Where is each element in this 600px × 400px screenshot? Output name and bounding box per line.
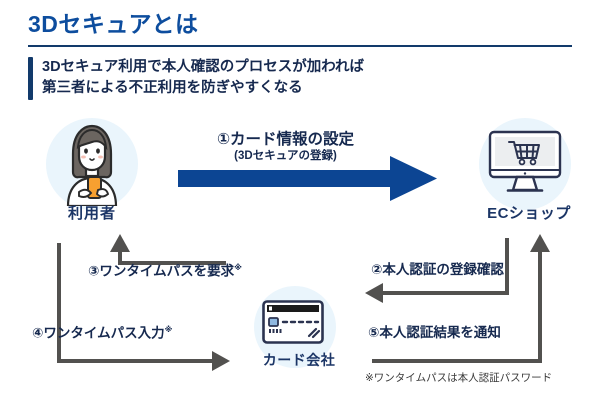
node-card-company-label: カード会社 <box>238 350 360 370</box>
flow-label-4: ④ワンタイムパス入力※ <box>32 325 172 342</box>
footnote: ※ワンタイムパスは本人認証パスワード <box>365 370 552 385</box>
lede-text: 3Dセキュア利用で本人確認のプロセスが加われば 第三者による不正利用を防ぎやすく… <box>42 57 364 100</box>
arrow-3-otp-request <box>110 234 226 265</box>
flow-label-1: ①カード情報の設定 (3Dセキュアの登録) <box>198 130 373 164</box>
node-card-company: カード会社 <box>238 286 360 380</box>
flow-label-3-star: ※ <box>234 263 242 272</box>
node-user-label: 利用者 <box>34 202 150 223</box>
flow-label-2-main: ②本人認証の登録確認 <box>371 262 504 277</box>
person-smartphone-icon <box>46 120 138 206</box>
flow-label-1-main: ①カード情報の設定 <box>217 131 354 148</box>
flow-label-3-main: ③ワンタイムパスを要求 <box>88 264 234 279</box>
flow-label-2: ②本人認証の登録確認 <box>371 262 504 279</box>
page-title: 3Dセキュアとは <box>28 12 198 37</box>
node-ec-shop-label: ECショップ <box>466 202 592 223</box>
flow-label-4-star: ※ <box>165 325 173 334</box>
node-ec-shop: ECショップ <box>466 118 592 230</box>
node-user: 利用者 <box>34 118 150 230</box>
title-underline <box>28 45 572 47</box>
lede-block: 3Dセキュア利用で本人確認のプロセスが加われば 第三者による不正利用を防ぎやすく… <box>28 57 364 100</box>
credit-card-icon <box>262 300 324 344</box>
lede-line-1: 3Dセキュア利用で本人確認のプロセスが加われば <box>42 57 364 78</box>
lede-line-2: 第三者による不正利用を防ぎやすくなる <box>42 78 364 99</box>
flow-label-1-sub: (3Dセキュアの登録) <box>198 149 373 163</box>
flow-label-3: ③ワンタイムパスを要求※ <box>88 263 242 280</box>
monitor-shopping-cart-icon <box>488 130 562 196</box>
infographic-root: 3Dセキュアとは 3Dセキュア利用で本人確認のプロセスが加われば 第三者による不… <box>0 0 600 400</box>
flow-label-4-main: ④ワンタイムパス入力 <box>32 326 165 341</box>
flow-label-5: ⑤本人認証結果を通知 <box>368 325 501 342</box>
arrow-5-auth-result-notify <box>372 234 550 363</box>
lede-accent-bar <box>28 57 33 100</box>
flow-label-5-main: ⑤本人認証結果を通知 <box>368 325 501 340</box>
